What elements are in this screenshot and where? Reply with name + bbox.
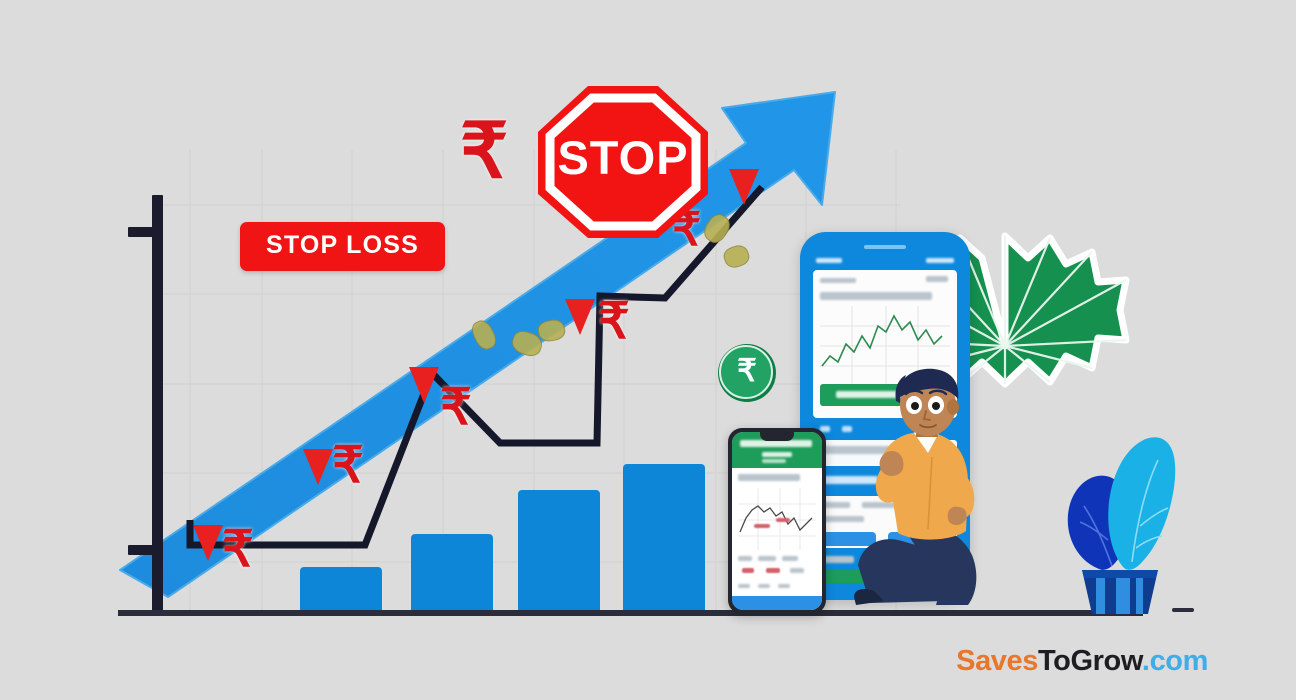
logo-part-saves: Saves	[956, 645, 1038, 677]
stop-loss-badge[interactable]: STOP LOSS	[240, 222, 445, 271]
down-triangle-icon-1	[190, 522, 226, 564]
rupee-marker-3: ₹	[440, 382, 472, 432]
plant-shadow	[1172, 608, 1194, 612]
logo-part-togrow: ToGrow	[1038, 645, 1142, 677]
phone-large-speaker	[864, 245, 906, 249]
worried-investor-avatar	[840, 365, 1010, 615]
phone-small[interactable]	[728, 428, 826, 614]
rupee-marker-2: ₹	[332, 440, 364, 490]
stop-sign-label: STOP	[534, 134, 712, 181]
stop-sign-icon: STOP	[534, 82, 712, 242]
rupee-marker-1: ₹	[222, 524, 254, 574]
logo-part-com: .com	[1142, 645, 1208, 677]
site-logo[interactable]: SavesToGrow.com	[956, 645, 1208, 678]
phone-small-notch	[760, 432, 794, 441]
rupee-marker-4: ₹	[598, 296, 630, 346]
rupee-coin-icon: ₹	[716, 342, 778, 404]
rupee-marker-large: ₹	[460, 114, 508, 190]
illustration-canvas: ₹ ₹ ₹ ₹ ₹ ₹ STOP LOSS STOP ₹	[0, 0, 1296, 700]
phone-small-screen	[732, 432, 822, 610]
potted-plant-icon	[1040, 420, 1180, 615]
coin-rupee-label: ₹	[716, 355, 778, 386]
down-triangle-icon-2	[300, 446, 336, 488]
down-triangle-icon-3	[406, 364, 442, 406]
down-triangle-icon-4	[562, 296, 598, 338]
stop-loss-label: STOP LOSS	[266, 231, 419, 259]
down-triangle-icon-5	[726, 166, 762, 208]
